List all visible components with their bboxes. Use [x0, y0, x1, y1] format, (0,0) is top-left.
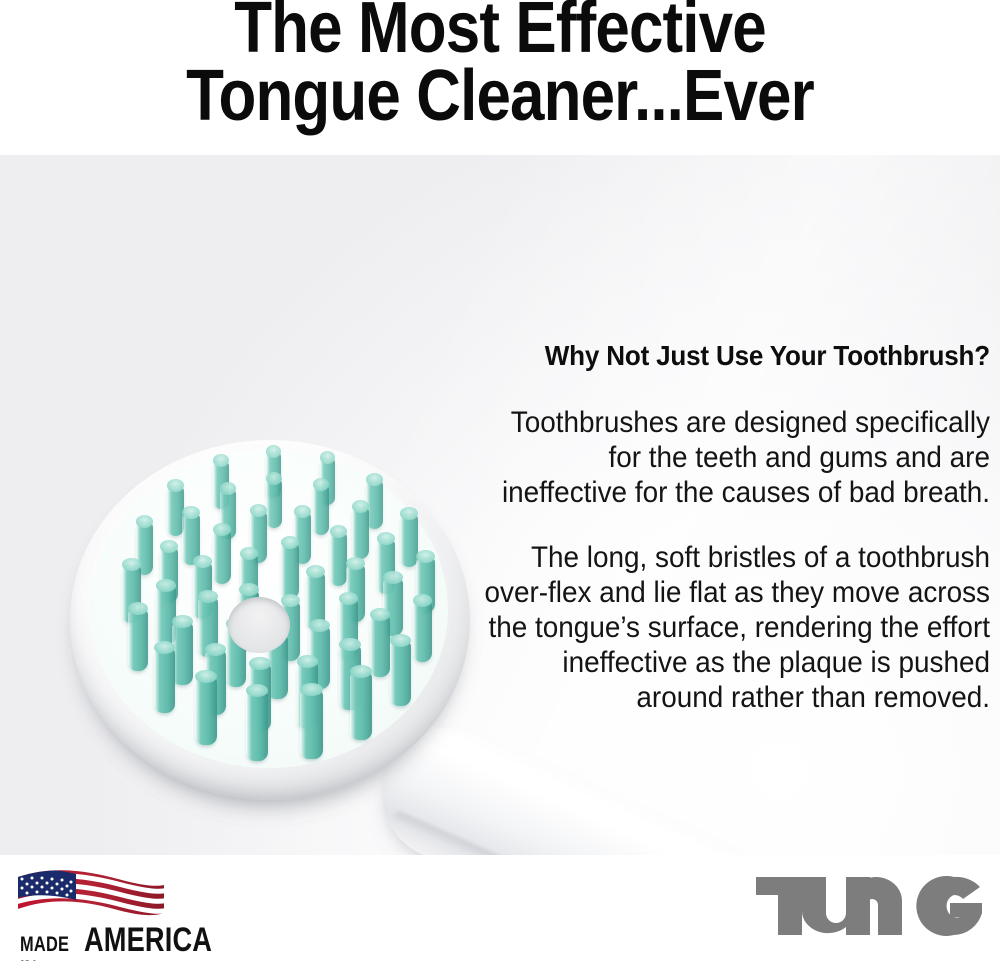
bristle-tuft — [213, 529, 231, 584]
made-in-label: MADE IN — [20, 933, 82, 961]
bristle-tuft — [167, 485, 183, 536]
bristle-tuft — [246, 690, 268, 760]
page-title: The Most Effective Tongue Cleaner...Ever — [70, 0, 930, 130]
brush-handle — [361, 707, 1000, 855]
copy-paragraph-2: The long, soft bristles of a toothbrush … — [477, 540, 990, 715]
bristle-tuft — [313, 484, 329, 535]
bristle-tuft — [195, 676, 217, 745]
copy-paragraph-1: Toothbrushes are designed specifically f… — [477, 405, 990, 510]
product-photo: Why Not Just Use Your Toothbrush? Toothb… — [0, 155, 1000, 855]
brush-head-center-recess — [228, 597, 290, 653]
bristle-tuft — [300, 689, 322, 759]
bristle-tuft — [266, 478, 282, 528]
bristle-tuft — [172, 621, 192, 685]
bristle-tuft — [370, 614, 390, 677]
copy-column: Why Not Just Use Your Toothbrush? Toothb… — [438, 341, 990, 715]
product-marketing-image: The Most Effective Tongue Cleaner...Ever… — [0, 0, 1000, 961]
tung-brand-logo — [754, 871, 984, 941]
usa-waving-flag-icon — [14, 867, 166, 929]
headline-line-2: Tongue Cleaner...Ever — [186, 56, 814, 136]
copy-subhead: Why Not Just Use Your Toothbrush? — [477, 341, 990, 371]
made-in-america-text: MADE IN AMERICA — [20, 921, 244, 961]
bristle-tuft — [352, 506, 369, 559]
header-band: The Most Effective Tongue Cleaner...Ever — [0, 0, 1000, 155]
bristle-tuft — [413, 600, 433, 662]
footer-band: MADE IN AMERICA — [0, 855, 1000, 961]
bristle-tuft — [350, 671, 372, 740]
bristle-tuft — [390, 640, 411, 706]
made-in-america-badge: MADE IN AMERICA — [14, 867, 244, 951]
bristle-tuft — [128, 608, 148, 671]
bristle-tuft — [281, 542, 299, 598]
bristle-tuft — [400, 513, 417, 567]
bristle-tuft — [154, 647, 175, 713]
america-label: AMERICA — [84, 921, 212, 960]
bristle-tuft — [330, 531, 348, 586]
